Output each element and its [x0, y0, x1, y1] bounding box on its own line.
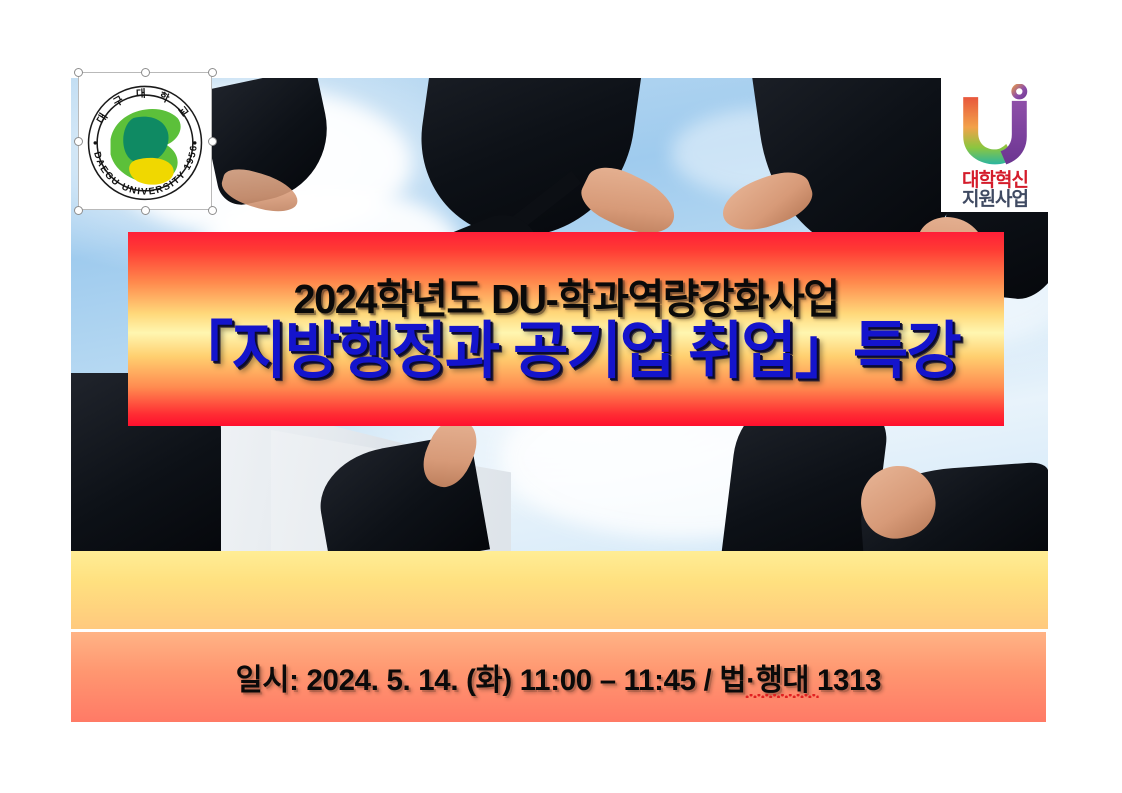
- poster-canvas: 2024학년도 DU-학과역량강화사업 「지방행정과 공기업 취업」특강 대 구…: [0, 0, 1122, 793]
- poster-subtitle: 2024학년도 DU-학과역량강화사업: [293, 278, 838, 321]
- selection-handle-ne[interactable]: [208, 68, 217, 77]
- daegu-university-emblem-svg: 대 구 대 학 교 DAEGU UNIVERSITY 1956: [78, 72, 212, 210]
- daegu-university-emblem[interactable]: 대 구 대 학 교 DAEGU UNIVERSITY 1956: [78, 72, 212, 210]
- selection-handle-e[interactable]: [208, 137, 217, 146]
- yellow-spacer-band: [71, 551, 1048, 629]
- datetime-text: 일시: 2024. 5. 14. (화) 11:00 – 11:45 / 법·행…: [236, 655, 882, 699]
- innovation-logo-line2: 지원사업: [962, 190, 1028, 210]
- poster-title: 「지방행정과 공기업 취업」특강: [173, 319, 960, 386]
- selection-handle-nw[interactable]: [74, 68, 83, 77]
- datetime-band: 일시: 2024. 5. 14. (화) 11:00 – 11:45 / 법·행…: [71, 632, 1048, 723]
- selection-handle-sw[interactable]: [74, 206, 83, 215]
- u-right-stroke: [1001, 101, 1027, 165]
- innovation-u-mark-icon: [947, 84, 1043, 170]
- u-dot-hole: [1016, 88, 1022, 94]
- university-innovation-support-project-logo[interactable]: 대학혁신 지원사업: [941, 78, 1049, 212]
- spellcheck-underline: [745, 694, 819, 698]
- selection-handle-se[interactable]: [208, 206, 217, 215]
- title-ribbon: 2024학년도 DU-학과역량강화사업 「지방행정과 공기업 취업」특강: [128, 232, 1004, 426]
- innovation-logo-line1: 대학혁신: [962, 171, 1028, 190]
- selection-handle-w[interactable]: [74, 137, 83, 146]
- selection-handle-n[interactable]: [141, 68, 150, 77]
- selection-handle-s[interactable]: [141, 206, 150, 215]
